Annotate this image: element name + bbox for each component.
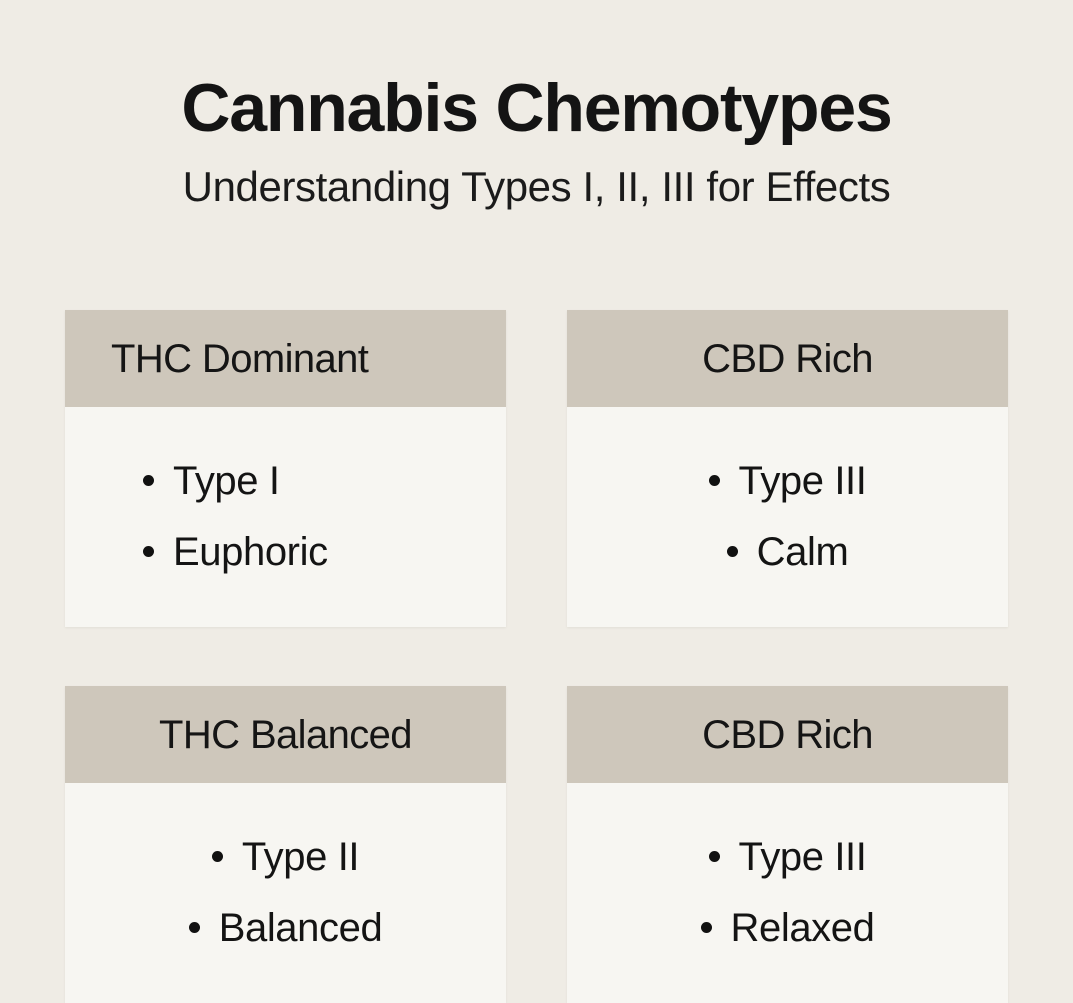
card-body: Type III Calm: [567, 407, 1008, 627]
card-title: THC Dominant: [111, 339, 368, 379]
chemotype-card[interactable]: THC Dominant Type I Euphoric: [65, 310, 506, 627]
bullet-dot-icon: [212, 851, 223, 862]
bullet-dot-icon: [727, 546, 738, 557]
chemotype-card[interactable]: CBD Rich Type III Relaxed: [567, 686, 1008, 1003]
list-item: Type II: [65, 821, 506, 892]
bullet-dot-icon: [701, 922, 712, 933]
infographic-page: Cannabis Chemotypes Understanding Types …: [0, 0, 1073, 720]
card-body: Type II Balanced: [65, 783, 506, 1003]
card-header: CBD Rich: [567, 310, 1008, 407]
bullet-dot-icon: [143, 475, 154, 486]
list-item-label: Euphoric: [173, 532, 328, 572]
card-title: CBD Rich: [702, 715, 873, 755]
card-bullet-list: Type I Euphoric: [65, 445, 506, 587]
card-title: CBD Rich: [702, 339, 873, 379]
chemotype-card[interactable]: CBD Rich Type III Calm: [567, 310, 1008, 627]
bullet-dot-icon: [143, 546, 154, 557]
card-header: CBD Rich: [567, 686, 1008, 783]
page-title: Cannabis Chemotypes: [0, 0, 1073, 142]
list-item-label: Balanced: [219, 908, 383, 948]
list-item-label: Relaxed: [731, 908, 875, 948]
bullet-dot-icon: [709, 475, 720, 486]
card-header: THC Balanced: [65, 686, 506, 783]
list-item: Type I: [65, 445, 506, 516]
list-item: Calm: [567, 516, 1008, 587]
list-item-label: Type I: [173, 461, 280, 501]
card-bullet-list: Type III Calm: [567, 445, 1008, 587]
list-item-label: Type III: [739, 837, 867, 877]
list-item-label: Calm: [757, 532, 849, 572]
chemotype-card[interactable]: THC Balanced Type II Balanced: [65, 686, 506, 1003]
list-item: Type III: [567, 821, 1008, 892]
bullet-dot-icon: [709, 851, 720, 862]
card-header: THC Dominant: [65, 310, 506, 407]
card-body: Type I Euphoric: [65, 407, 506, 627]
list-item: Relaxed: [567, 892, 1008, 963]
chemotype-card-grid: THC Dominant Type I Euphoric CBD Ric: [65, 310, 1008, 1003]
card-bullet-list: Type III Relaxed: [567, 821, 1008, 963]
list-item: Type III: [567, 445, 1008, 516]
page-subtitle: Understanding Types I, II, III for Effec…: [0, 142, 1073, 208]
list-item: Balanced: [65, 892, 506, 963]
card-bullet-list: Type II Balanced: [65, 821, 506, 963]
card-title: THC Balanced: [159, 715, 412, 755]
page-header: Cannabis Chemotypes Understanding Types …: [0, 0, 1073, 208]
list-item: Euphoric: [65, 516, 506, 587]
card-body: Type III Relaxed: [567, 783, 1008, 1003]
list-item-label: Type III: [739, 461, 867, 501]
list-item-label: Type II: [242, 837, 359, 877]
bullet-dot-icon: [189, 922, 200, 933]
